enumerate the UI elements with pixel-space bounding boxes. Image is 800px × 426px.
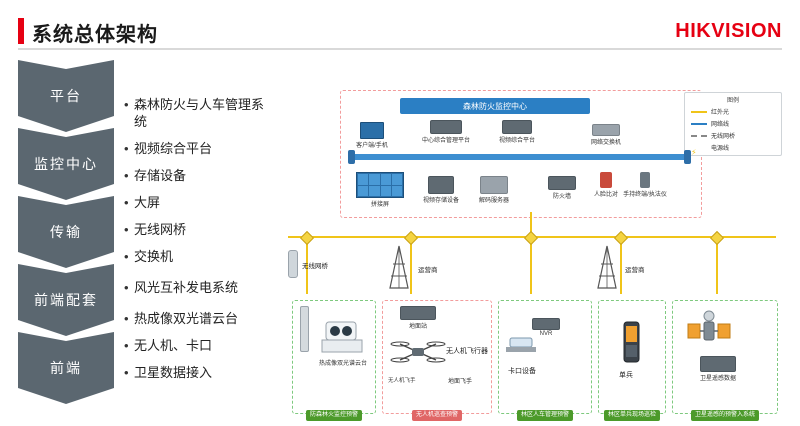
carrier-label-1: 运营商 bbox=[418, 264, 438, 274]
layer-item-monitor-center: 监控中心 bbox=[18, 128, 114, 200]
node-marker-icon bbox=[300, 231, 314, 245]
server-icon bbox=[502, 120, 532, 134]
list-item: •大屏 bbox=[124, 194, 274, 211]
list-item: •热成像双光谱云台 bbox=[124, 310, 274, 327]
carrier-label-2: 运营商 bbox=[625, 264, 645, 274]
client-phone-node: 客户端/手机 bbox=[360, 122, 384, 139]
bullet-dot: • bbox=[124, 221, 134, 238]
list-item: •无人机、卡口 bbox=[124, 337, 274, 354]
drone-icon bbox=[390, 336, 446, 366]
layer-label: 监控中心 bbox=[34, 154, 98, 174]
bullet-dot: • bbox=[124, 310, 134, 327]
legend-label: 网络线 bbox=[711, 119, 729, 128]
list-item: •卫星数据接入 bbox=[124, 364, 274, 381]
storage-icon bbox=[428, 176, 454, 194]
bus-end-left bbox=[348, 150, 355, 164]
title-accent-bar bbox=[18, 18, 24, 44]
video-wall-node: 拼接屏 bbox=[356, 172, 404, 198]
monitor-icon bbox=[360, 122, 384, 139]
bullet-label: 热成像双光谱云台 bbox=[134, 310, 238, 327]
bullet-label: 大屏 bbox=[134, 194, 160, 211]
node-label: NVR bbox=[540, 331, 553, 337]
firewall-node: 防火墙 bbox=[548, 176, 576, 190]
list-item: •视频综合平台 bbox=[124, 140, 274, 157]
network-bus bbox=[352, 154, 688, 160]
region-tag: 卫星遥感的预警入系统 bbox=[691, 410, 759, 421]
tower-icon bbox=[384, 244, 414, 292]
layer-label: 平台 bbox=[50, 86, 82, 106]
ground-station-icon bbox=[400, 306, 436, 320]
list-item: •风光互补发电系统 bbox=[124, 279, 274, 296]
satellite-receiver-node: 卫星遥感数据 bbox=[700, 356, 736, 372]
bullet-label: 无人机、卡口 bbox=[134, 337, 212, 354]
legend-item: ⚡ 电源线 bbox=[691, 143, 729, 152]
node-marker-icon bbox=[404, 231, 418, 245]
ground-station-node: 地面站 bbox=[400, 306, 436, 320]
legend: 图例 红外光 网络线 无线网桥 ⚡ 电源线 bbox=[684, 92, 782, 156]
monitor-center-title: 森林防火监控中心 bbox=[400, 98, 590, 114]
switch-icon bbox=[592, 124, 620, 136]
node-label: 人脸比对 bbox=[594, 189, 618, 198]
bullet-dot: • bbox=[124, 140, 134, 157]
single-soldier-label: 单兵 bbox=[619, 370, 633, 380]
node-label: 解码服务器 bbox=[479, 195, 509, 204]
layer-item-frontend-support: 前端配套 bbox=[18, 264, 114, 336]
bullet-dot: • bbox=[124, 279, 134, 296]
drone-label: 无人机飞行器 bbox=[446, 346, 488, 356]
video-platform-node: 视频综合平台 bbox=[502, 120, 532, 134]
firewall-icon bbox=[548, 176, 576, 190]
wireless-bridge-label: 无线网桥 bbox=[302, 260, 328, 270]
bullet-dot: • bbox=[124, 364, 134, 381]
legend-swatch-icon bbox=[691, 135, 707, 137]
bullet-label: 无线网桥 bbox=[134, 221, 186, 238]
video-wall-icon bbox=[356, 172, 404, 198]
pole-icon bbox=[300, 306, 309, 352]
bullet-label: 风光互补发电系统 bbox=[134, 279, 238, 296]
legend-swatch-icon bbox=[691, 123, 707, 125]
bullet-dot: • bbox=[124, 337, 134, 354]
bullet-dot: • bbox=[124, 248, 134, 265]
node-label: 视频综合平台 bbox=[499, 135, 535, 144]
ground-pilot-label: 地面飞手 bbox=[448, 376, 472, 385]
node-label: 防火墙 bbox=[553, 191, 571, 200]
face-compare-node: 人脸比对 bbox=[600, 172, 612, 188]
legend-item: 无线网桥 bbox=[691, 131, 735, 140]
feature-bullet-list: •森林防火与人车管理系统 •视频综合平台 •存储设备 •大屏 •无线网桥 •交换… bbox=[124, 96, 274, 391]
layer-stack: 平台 监控中心 传输 前端配套 前端 bbox=[18, 60, 114, 418]
server-icon bbox=[430, 120, 462, 134]
checkpoint-camera-icon bbox=[504, 332, 540, 358]
video-storage-node: 视频存储设备 bbox=[428, 176, 454, 194]
region-tag: 林区人车管理预警 bbox=[517, 410, 573, 421]
node-label: 手持终端/执法仪 bbox=[623, 189, 667, 198]
bullet-label: 森林防火与人车管理系统 bbox=[134, 96, 274, 130]
network-switch-node: 网络交换机 bbox=[592, 124, 620, 136]
architecture-diagram: 森林防火监控中心 图例 红外光 网络线 无线网桥 ⚡ 电源线 客户端/手机 中心… bbox=[280, 84, 788, 420]
nvr-node: NVR bbox=[532, 318, 560, 330]
bullet-label: 视频综合平台 bbox=[134, 140, 212, 157]
legend-swatch-icon bbox=[691, 111, 707, 113]
central-platform-node: 中心综合管理平台 bbox=[430, 120, 462, 134]
bullet-dot: • bbox=[124, 167, 134, 184]
wireless-bridge-node bbox=[288, 250, 298, 278]
checkpoint-label: 卡口设备 bbox=[508, 366, 536, 376]
handheld-terminal-node: 手持终端/执法仪 bbox=[640, 172, 650, 188]
list-item: •森林防火与人车管理系统 bbox=[124, 96, 274, 130]
layer-label: 前端 bbox=[50, 358, 82, 378]
bullet-dot: • bbox=[124, 96, 134, 113]
header-divider bbox=[18, 48, 782, 50]
thermal-ptz-label: 热成像双光谱云台 bbox=[310, 360, 376, 368]
node-label: 客户端/手机 bbox=[356, 140, 388, 149]
drone-pilot-label: 无人机飞手 bbox=[388, 376, 416, 384]
brand-logo: HIKVISION bbox=[675, 20, 782, 43]
satellite-icon bbox=[680, 310, 738, 354]
node-marker-icon bbox=[614, 231, 628, 245]
region-tag: 无人机巡查预警 bbox=[412, 410, 462, 421]
bridge-antenna-icon bbox=[288, 250, 298, 278]
node-label: 卫星遥感数据 bbox=[700, 373, 736, 382]
tower-icon bbox=[592, 244, 622, 292]
bullet-label: 交换机 bbox=[134, 248, 173, 265]
legend-label: 电源线 bbox=[711, 143, 729, 152]
layer-item-transmission: 传输 bbox=[18, 196, 114, 268]
bullet-label: 存储设备 bbox=[134, 167, 186, 184]
handheld-icon bbox=[640, 172, 650, 188]
bullet-label: 卫星数据接入 bbox=[134, 364, 212, 381]
face-compare-icon bbox=[600, 172, 612, 188]
layer-label: 前端配套 bbox=[34, 290, 98, 310]
list-item: •存储设备 bbox=[124, 167, 274, 184]
node-label: 中心综合管理平台 bbox=[422, 135, 470, 144]
legend-label: 红外光 bbox=[711, 107, 729, 116]
node-label: 地面站 bbox=[409, 321, 427, 330]
list-item: •无线网桥 bbox=[124, 221, 274, 238]
decoder-icon bbox=[480, 176, 508, 194]
layer-label: 传输 bbox=[50, 222, 82, 242]
thermal-ptz-camera-icon bbox=[316, 316, 368, 356]
layer-item-frontend: 前端 bbox=[18, 332, 114, 404]
layer-item-platform: 平台 bbox=[18, 60, 114, 132]
node-label: 拼接屏 bbox=[371, 199, 389, 208]
receiver-icon bbox=[700, 356, 736, 372]
pole-node bbox=[300, 306, 309, 352]
bullet-dot: • bbox=[124, 194, 134, 211]
node-label: 网络交换机 bbox=[591, 137, 621, 146]
node-label: 视频存储设备 bbox=[423, 195, 459, 204]
node-marker-icon bbox=[710, 231, 724, 245]
nvr-icon bbox=[532, 318, 560, 330]
page-title: 系统总体架构 bbox=[32, 18, 158, 47]
bus-end-right bbox=[684, 150, 691, 164]
node-marker-icon bbox=[524, 231, 538, 245]
legend-label: 无线网桥 bbox=[711, 131, 735, 140]
decoder-server-node: 解码服务器 bbox=[480, 176, 508, 194]
legend-title: 图例 bbox=[727, 95, 739, 104]
legend-item: 网络线 bbox=[691, 119, 729, 128]
handheld-terminal-icon bbox=[616, 320, 646, 368]
region-tag: 林区单兵现场巡检 bbox=[604, 410, 660, 421]
region-tag: 防森林火监控预警 bbox=[306, 410, 362, 421]
legend-item: 红外光 bbox=[691, 107, 729, 116]
list-item: •交换机 bbox=[124, 248, 274, 265]
